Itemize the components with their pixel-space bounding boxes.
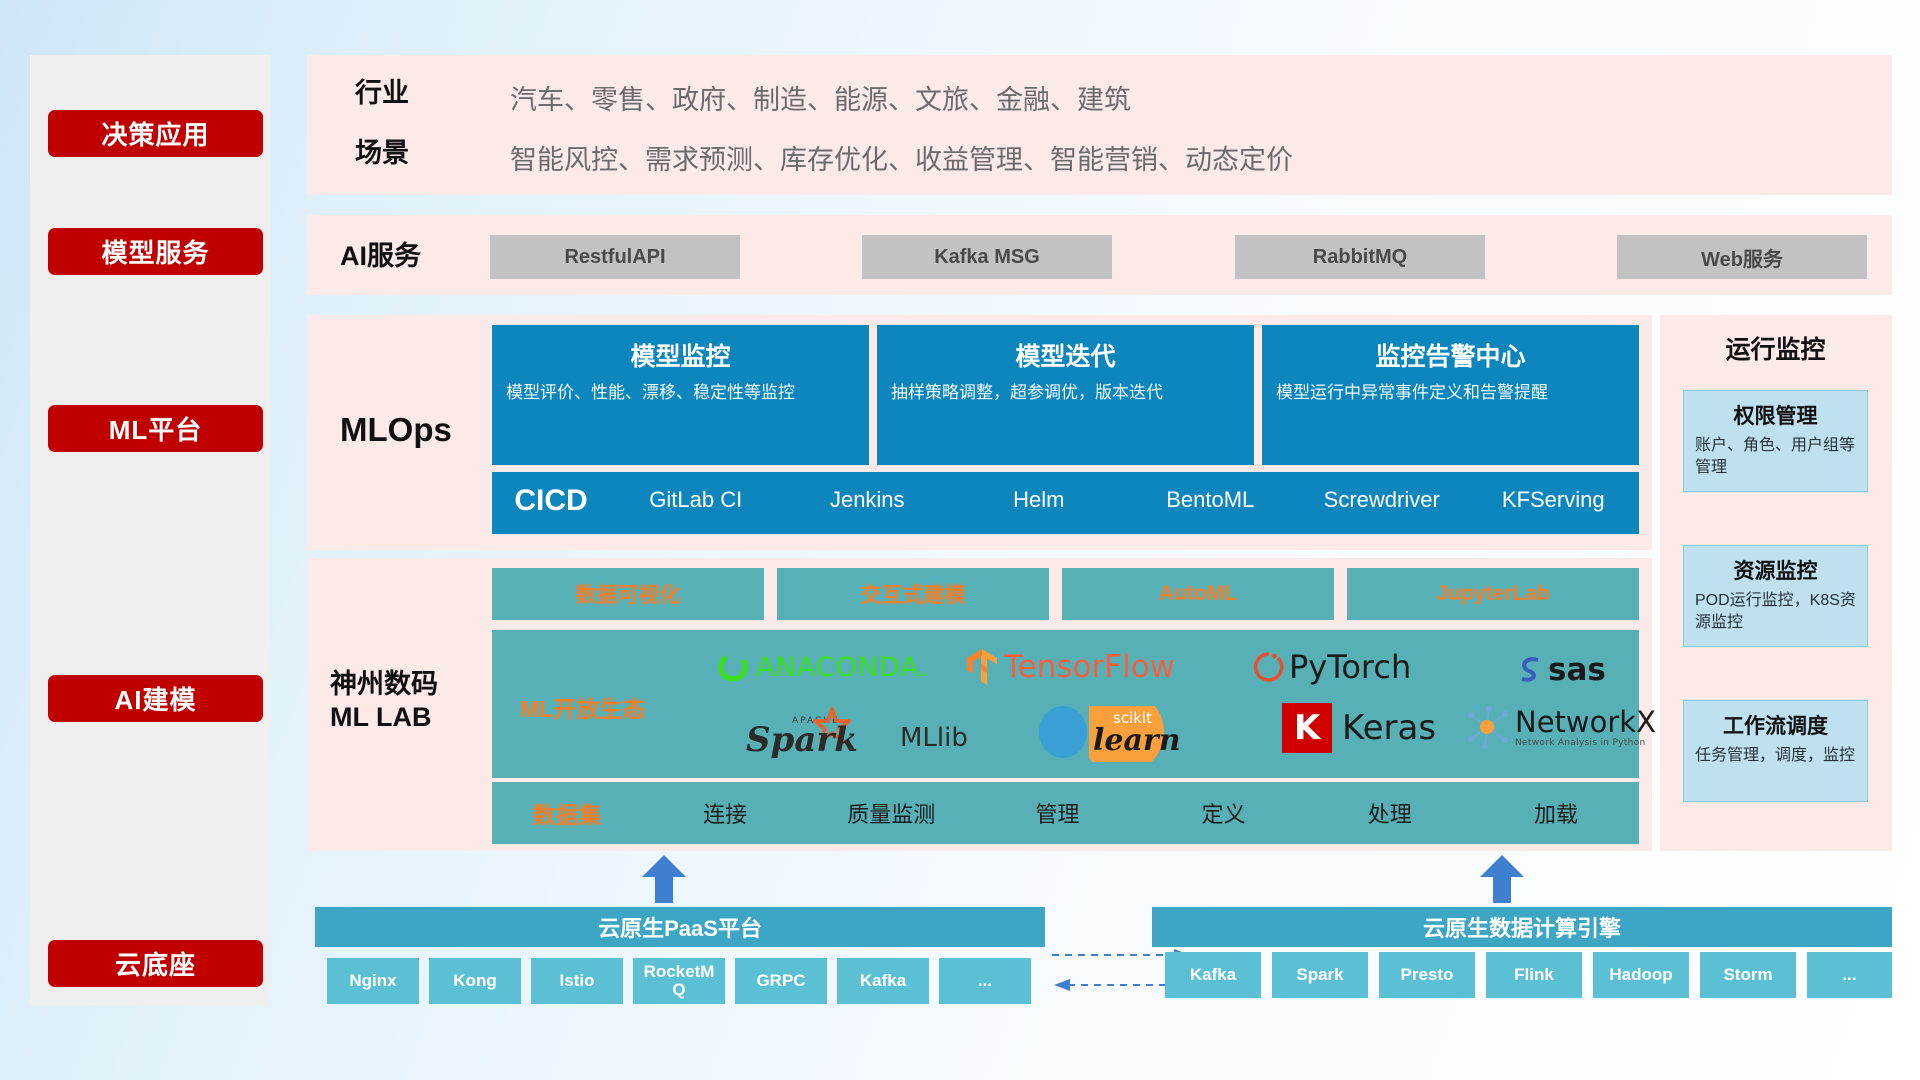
card-title: 权限管理 (1684, 400, 1867, 430)
box-label: Storm (1723, 966, 1772, 984)
paas-bar-label: 云原生PaaS平台 (598, 911, 762, 943)
networkx-icon (1465, 706, 1511, 750)
monitor-card-workflow[interactable]: 工作流调度 任务管理，调度，监控 (1683, 700, 1868, 802)
box-label: Spark (1296, 966, 1343, 984)
sas-label: sas (1548, 652, 1606, 688)
pytorch-label: PyTorch (1289, 648, 1411, 686)
tensorflow-label: TensorFlow (1004, 649, 1175, 685)
rail-label: 决策应用 (101, 115, 209, 152)
left-rail (30, 55, 270, 1005)
engine-bar-label: 云原生数据计算引擎 (1423, 911, 1621, 943)
box-label: ... (1842, 966, 1856, 984)
industry-value: 汽车、零售、政府、制造、能源、文旅、金融、建筑 (510, 78, 1131, 117)
box-label: RocketMQ (633, 963, 725, 999)
rail-item-cloud-base[interactable]: 云底座 (48, 940, 263, 987)
box-label: GRPC (756, 972, 805, 990)
dataset-item-connect[interactable]: 连接 (642, 797, 808, 829)
anaconda-icon (716, 650, 750, 684)
engine-item-more[interactable]: ... (1807, 952, 1892, 998)
engine-item-kafka[interactable]: Kafka (1165, 952, 1261, 998)
service-chip-kafka[interactable]: Kafka MSG (862, 235, 1112, 279)
lab-tool-data-viz[interactable]: 数据可视化 (492, 568, 764, 620)
rail-item-model-service[interactable]: 模型服务 (48, 228, 263, 275)
keras-icon: K (1282, 703, 1332, 753)
spark-mllib-logo: APACHE Spark MLlib (740, 707, 968, 759)
keras-logo: K Keras (1282, 703, 1436, 753)
monitor-card-permission[interactable]: 权限管理 账户、角色、用户组等管理 (1683, 390, 1868, 492)
networkx-tagline: Network Analysis in Python (1515, 739, 1656, 748)
lab-tool-jupyterlab[interactable]: JupyterLab (1347, 568, 1639, 620)
dataset-item-process[interactable]: 处理 (1307, 797, 1473, 829)
chip-label: RestfulAPI (564, 246, 665, 269)
cicd-item-jenkins[interactable]: Jenkins (782, 472, 954, 511)
monitor-card-resource[interactable]: 资源监控 POD运行监控，K8S资源监控 (1683, 545, 1868, 647)
box-label: Kafka (1190, 966, 1236, 984)
card-desc: 任务管理，调度，监控 (1684, 745, 1867, 777)
dataset-item-define[interactable]: 定义 (1141, 797, 1307, 829)
rail-label: 模型服务 (101, 233, 209, 270)
cloud-item-istio[interactable]: Istio (531, 958, 623, 1004)
box-label: Presto (1401, 966, 1454, 984)
box-label: Hadoop (1609, 966, 1672, 984)
card-title: 模型监控 (492, 337, 869, 373)
dataset-row: 数据集 连接 质量监测 管理 定义 处理 加载 (492, 782, 1639, 844)
ai-service-label: AI服务 (340, 240, 421, 273)
tool-label: AutoML (1159, 582, 1237, 606)
lab-tool-automl[interactable]: AutoML (1062, 568, 1334, 620)
cicd-item-kfserving[interactable]: KFServing (1468, 472, 1640, 511)
service-chip-web[interactable]: Web服务 (1617, 235, 1867, 279)
card-desc: 抽样策略调整，超参调优，版本迭代 (877, 381, 1254, 405)
cloud-item-kafka[interactable]: Kafka (837, 958, 929, 1004)
anaconda-label: ANACONDA. (756, 652, 929, 683)
engine-item-spark[interactable]: Spark (1272, 952, 1368, 998)
cicd-item-helm[interactable]: Helm (953, 472, 1125, 511)
card-desc: 模型运行中异常事件定义和告警提醒 (1262, 381, 1639, 405)
cloud-item-kong[interactable]: Kong (429, 958, 521, 1004)
service-chip-rabbitmq[interactable]: RabbitMQ (1235, 235, 1485, 279)
dataset-item-manage[interactable]: 管理 (974, 797, 1140, 829)
card-title: 模型迭代 (877, 337, 1254, 373)
tensorflow-icon (965, 647, 999, 687)
engine-item-presto[interactable]: Presto (1379, 952, 1475, 998)
chip-label: Kafka MSG (934, 246, 1040, 269)
cloud-item-nginx[interactable]: Nginx (327, 958, 419, 1004)
networkx-logo: NetworkX Network Analysis in Python (1465, 706, 1656, 750)
arrow-up-paas (640, 855, 688, 903)
networkx-label: NetworkX (1515, 708, 1656, 737)
cicd-label: CICD (492, 472, 610, 518)
anaconda-logo: ANACONDA. (716, 650, 929, 684)
chip-label: Web服务 (1701, 243, 1783, 272)
spark-icon: APACHE Spark (740, 707, 898, 759)
cloud-item-grpc[interactable]: GRPC (735, 958, 827, 1004)
svg-text:Spark: Spark (746, 720, 858, 759)
rail-label: 云底座 (115, 945, 196, 982)
ml-lab-label: 神州数码 ML LAB (330, 668, 438, 734)
pytorch-icon (1253, 649, 1285, 685)
card-desc: 账户、角色、用户组等管理 (1684, 435, 1867, 489)
ml-eco-label: ML开放生态 (520, 690, 645, 724)
card-title: 资源监控 (1684, 555, 1867, 585)
box-label: Kafka (860, 972, 906, 990)
tool-label: 交互式建模 (861, 579, 966, 609)
box-label: Istio (560, 972, 595, 990)
mllib-label: MLlib (900, 723, 968, 753)
sas-logo: sas (1516, 652, 1606, 688)
rail-label: AI建模 (114, 680, 196, 717)
box-label: Kong (453, 972, 496, 990)
cloud-item-more[interactable]: ... (939, 958, 1031, 1004)
dataset-label: 数据集 (492, 796, 642, 830)
box-label: Nginx (349, 972, 396, 990)
keras-label: Keras (1342, 708, 1436, 748)
box-label: ... (978, 972, 992, 990)
cicd-item-gitlab[interactable]: GitLab CI (610, 472, 782, 511)
cicd-item-screwdriver[interactable]: Screwdriver (1296, 472, 1468, 511)
scenario-value: 智能风控、需求预测、库存优化、收益管理、智能营销、动态定价 (510, 138, 1293, 177)
tensorflow-logo: TensorFlow (965, 647, 1175, 687)
card-title: 工作流调度 (1684, 710, 1867, 740)
engine-bar[interactable]: 云原生数据计算引擎 (1152, 907, 1892, 947)
mlops-label: MLOps (340, 410, 452, 450)
card-title: 监控告警中心 (1262, 337, 1639, 373)
pytorch-logo: PyTorch (1253, 648, 1411, 686)
industry-label: 行业 (355, 77, 409, 110)
box-label: Flink (1514, 966, 1554, 984)
paas-bar[interactable]: 云原生PaaS平台 (315, 907, 1045, 947)
svg-text:learn: learn (1093, 723, 1181, 758)
rail-item-ai-modeling[interactable]: AI建模 (48, 675, 263, 722)
cloud-item-rocketmq[interactable]: RocketMQ (633, 958, 725, 1004)
scikit-icon: scikit learn (1037, 700, 1187, 762)
engine-item-storm[interactable]: Storm (1700, 952, 1796, 998)
ml-lab-label-line2: ML LAB (330, 701, 438, 734)
scenario-label: 场景 (355, 137, 409, 170)
monitor-title: 运行监控 (1683, 330, 1868, 366)
arrow-up-engine (1478, 855, 1526, 903)
service-chip-restful[interactable]: RestfulAPI (490, 235, 740, 279)
mlops-card-model-iteration[interactable]: 模型迭代 抽样策略调整，超参调优，版本迭代 (877, 325, 1254, 465)
cicd-bar[interactable]: CICD GitLab CI Jenkins Helm BentoML Scre… (492, 472, 1639, 534)
mlops-card-model-monitor[interactable]: 模型监控 模型评价、性能、漂移、稳定性等监控 (492, 325, 869, 465)
dataset-item-load[interactable]: 加载 (1473, 797, 1639, 829)
rail-label: ML平台 (109, 410, 203, 447)
card-desc: POD运行监控，K8S资源监控 (1684, 590, 1867, 644)
card-desc: 模型评价、性能、漂移、稳定性等监控 (492, 381, 869, 405)
scikit-learn-logo: scikit learn (1037, 700, 1187, 762)
architecture-diagram: 决策应用 模型服务 ML平台 AI建模 云底座 行业 汽车、零售、政府、制造、能… (0, 0, 1920, 1080)
sas-icon (1516, 654, 1546, 686)
ml-lab-label-line1: 神州数码 (330, 668, 438, 701)
rail-item-ml-platform[interactable]: ML平台 (48, 405, 263, 452)
engine-item-hadoop[interactable]: Hadoop (1593, 952, 1689, 998)
dataset-item-quality[interactable]: 质量监测 (808, 797, 974, 829)
chip-label: RabbitMQ (1313, 246, 1407, 269)
rail-item-decision-app[interactable]: 决策应用 (48, 110, 263, 157)
mlops-card-alert-center[interactable]: 监控告警中心 模型运行中异常事件定义和告警提醒 (1262, 325, 1639, 465)
lab-tool-interactive[interactable]: 交互式建模 (777, 568, 1049, 620)
tool-label: 数据可视化 (576, 579, 681, 609)
tool-label: JupyterLab (1436, 582, 1549, 606)
cicd-item-bentoml[interactable]: BentoML (1125, 472, 1297, 511)
engine-item-flink[interactable]: Flink (1486, 952, 1582, 998)
